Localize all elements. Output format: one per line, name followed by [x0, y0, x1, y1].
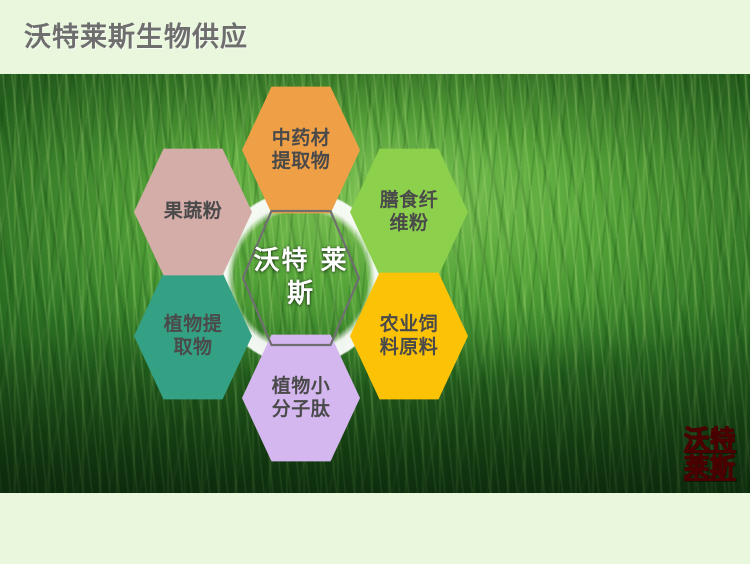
hex-label-line1: 植物小 [272, 375, 331, 398]
hero-image: 中药材 提取物 膳食纤 维粉 农业饲 料原料 植物小 分子肽 植物提 取物 果蔬… [0, 74, 750, 493]
hex-node-brand-center[interactable]: 沃特 莱斯 [242, 208, 360, 348]
hex-label-line2: 分子肽 [272, 398, 331, 421]
page-title: 沃特莱斯生物供应 [24, 24, 248, 51]
brand-line1: 沃特 [253, 246, 309, 276]
hex-label-line1: 果蔬粉 [164, 200, 223, 223]
brand-watermark-logo: 沃特 莱斯 [684, 426, 736, 481]
page-header: 沃特莱斯生物供应 [0, 0, 750, 74]
watermark-line1: 沃特 [684, 426, 736, 454]
promo-banner-page: 沃特莱斯生物供应 中药材 提取物 膳食纤 维粉 农业饲 料原料 植物小 [0, 0, 750, 564]
hex-label-line2: 提取物 [272, 150, 331, 173]
hex-label-line1: 植物提 [164, 313, 223, 336]
hex-label-line2: 维粉 [389, 212, 428, 235]
hex-label-line2: 取物 [173, 336, 212, 359]
hex-label-line1: 中药材 [272, 127, 331, 150]
hex-label-line2: 料原料 [380, 336, 439, 359]
page-footer [0, 493, 750, 564]
brand-name-center: 沃特 莱斯 [242, 245, 360, 312]
hex-label-line1: 膳食纤 [380, 189, 439, 212]
hexagon-diagram: 中药材 提取物 膳食纤 维粉 农业饲 料原料 植物小 分子肽 植物提 取物 果蔬… [121, 84, 481, 474]
watermark-line2: 莱斯 [684, 454, 736, 482]
hex-node-herbal-extract[interactable]: 中药材 提取物 [242, 84, 360, 216]
hex-label-line1: 农业饲 [380, 313, 439, 336]
